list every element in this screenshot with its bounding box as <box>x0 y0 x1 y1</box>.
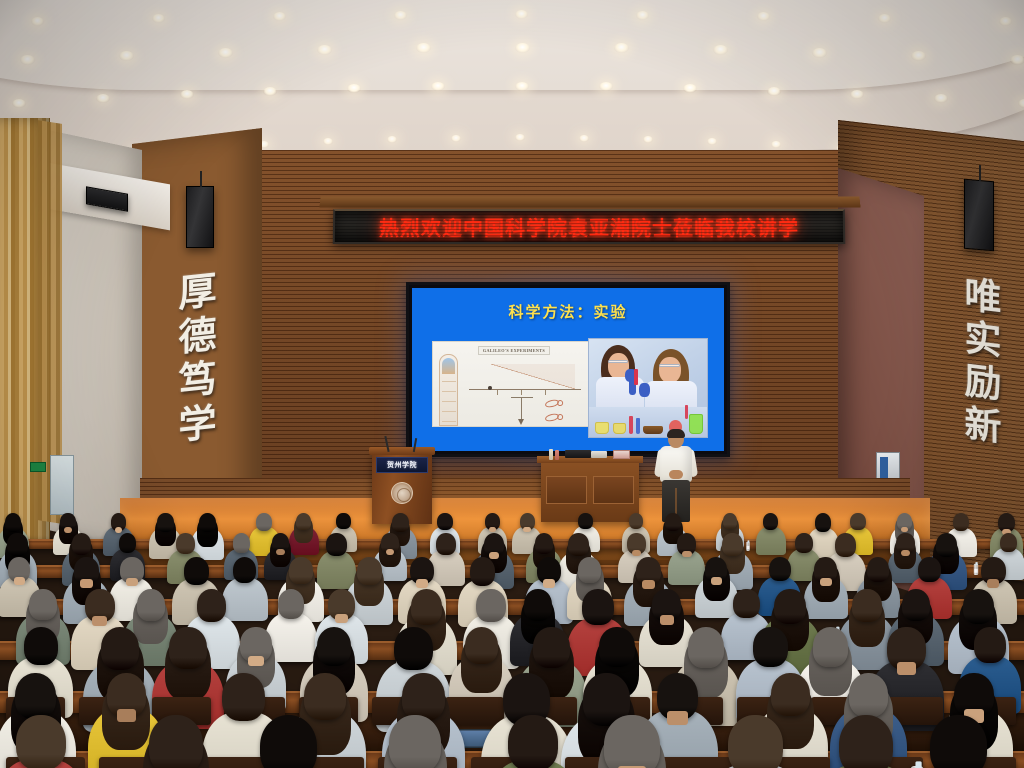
audience-neck <box>115 527 123 532</box>
audience-head <box>16 715 65 768</box>
audience-head <box>953 513 969 531</box>
audience-head <box>599 627 635 667</box>
audience-head <box>582 589 614 625</box>
audience-head <box>72 533 91 555</box>
audience-head <box>157 513 174 532</box>
audience-neck <box>335 614 349 623</box>
audience-member <box>0 715 89 768</box>
audience-head <box>233 557 257 583</box>
audience-head <box>963 589 994 624</box>
audience-head <box>392 513 409 532</box>
audience-head <box>578 513 593 529</box>
audience-head <box>278 589 305 619</box>
galileo-tower <box>439 354 458 426</box>
galileo-caption-text: GALILEO'S EXPERIMENTS <box>483 348 545 353</box>
audience-neck <box>632 550 641 556</box>
audience-neck <box>80 579 92 587</box>
audience-head <box>437 513 452 530</box>
ceiling-downlight <box>387 136 397 143</box>
audience-member <box>485 715 582 768</box>
table-bottle-1 <box>549 449 553 460</box>
galileo-pendulum-bar <box>511 397 533 398</box>
audience-head <box>137 589 165 621</box>
galileo-pendulum <box>521 397 522 421</box>
audience-head <box>357 557 382 585</box>
audience-head <box>813 627 849 667</box>
name-card <box>613 450 630 459</box>
audience-member <box>365 715 466 768</box>
audience-head <box>852 589 882 622</box>
audience-head <box>289 557 313 584</box>
audience-head <box>850 513 865 530</box>
audience-head <box>411 589 443 625</box>
lectern-nameplate: 贺州学院 <box>376 457 428 473</box>
galileo-cart-2 <box>544 412 559 422</box>
audience-head <box>524 589 552 621</box>
lectern-nameplate-text: 贺州学院 <box>387 460 417 470</box>
university-seal-icon <box>391 482 413 504</box>
ceiling-downlight <box>20 55 35 65</box>
audience-neck <box>14 577 25 584</box>
audience-head <box>508 715 558 768</box>
presenter-hands <box>669 470 683 479</box>
audience-head <box>849 673 889 717</box>
audience-head <box>867 557 889 582</box>
audience-head <box>604 715 660 768</box>
audience-head <box>733 589 759 618</box>
audience-head <box>902 589 931 621</box>
audience-head <box>184 557 209 585</box>
led-banner: 热烈欢迎中国科学院袁亚湘院士莅临我校讲学 <box>333 209 846 244</box>
audience-neck <box>92 616 107 626</box>
audience-member <box>756 513 786 558</box>
led-banner-text: 热烈欢迎中国科学院袁亚湘院士莅临我校讲学 <box>379 212 799 241</box>
audience-head <box>476 589 505 622</box>
banner-rail <box>319 196 860 207</box>
ceiling-downlight <box>451 135 461 142</box>
ceiling-downlight <box>31 17 44 26</box>
audience-head <box>795 533 813 553</box>
audience-head <box>1000 533 1017 552</box>
ceiling-downlight <box>515 43 530 53</box>
ceiling-downlight <box>812 48 827 58</box>
ceiling-downlight <box>579 135 589 142</box>
audience-neck <box>126 578 138 586</box>
audience-head <box>402 673 445 721</box>
audience-head <box>974 627 1006 663</box>
audience-head <box>24 627 58 665</box>
audience-head <box>728 715 783 768</box>
audience-head <box>578 557 601 583</box>
ceiling-downlight <box>394 11 407 20</box>
galileo-tower-top <box>442 358 455 374</box>
audience-head <box>176 533 195 554</box>
audience-head <box>465 627 499 664</box>
audience-neck <box>489 527 497 532</box>
audience-head <box>304 673 346 720</box>
audience-area <box>0 505 1024 768</box>
audience-head <box>835 533 856 557</box>
ceiling-downlight <box>636 11 649 20</box>
ceiling-downlight <box>12 99 26 108</box>
audience-head <box>15 673 56 719</box>
audience-member <box>904 715 1014 768</box>
audience-member <box>813 715 918 768</box>
audience-head <box>256 513 272 531</box>
audience-head <box>336 513 350 529</box>
av-equipment <box>565 450 591 458</box>
audience-neck <box>711 577 722 584</box>
audience-head <box>233 533 250 553</box>
audience-member <box>232 715 344 768</box>
audience-head <box>535 533 553 554</box>
audience-head <box>533 627 570 668</box>
audience-member <box>702 715 808 768</box>
audience-head <box>918 557 941 582</box>
audience-neck <box>416 579 428 587</box>
audience-head <box>222 673 265 721</box>
audience-head <box>197 589 226 622</box>
audience-head <box>753 627 788 667</box>
audience-head <box>763 513 778 530</box>
audience-member <box>123 715 228 768</box>
audience-head <box>839 715 893 768</box>
audience-neck <box>660 615 674 625</box>
audience-head <box>568 533 589 556</box>
loudspeaker-icon-right <box>964 179 994 252</box>
audience-neck <box>682 551 692 557</box>
wall-calligraphy-right: 唯实励新 <box>958 274 998 451</box>
audience-head <box>389 715 441 768</box>
ceiling-downlight <box>119 51 134 61</box>
ceiling-downlight <box>180 90 194 99</box>
presentation-slide: 科学方法：实验 GALILEO'S EXPERIMENTS <box>412 288 724 451</box>
audience-head <box>260 715 318 768</box>
audience-head <box>629 513 644 529</box>
galileo-caption-box: GALILEO'S EXPERIMENTS <box>478 346 550 355</box>
audience-head <box>149 715 203 768</box>
audience-head <box>5 513 22 532</box>
slide-title: 科学方法：实验 <box>412 301 724 322</box>
audience-head <box>665 513 681 531</box>
audience-head <box>774 589 806 624</box>
audience-neck <box>386 549 395 555</box>
audience-head <box>101 627 140 670</box>
audience-neck <box>543 579 555 587</box>
audience-head <box>169 627 207 669</box>
galileo-pendulum-bob <box>518 419 524 425</box>
audience-neck <box>248 656 264 666</box>
audience-head <box>936 533 957 557</box>
av-equipment-2 <box>591 451 607 458</box>
galileo-inclined-plane <box>491 364 575 390</box>
ceiling-downlight <box>683 84 697 93</box>
audience-head <box>688 627 724 668</box>
ceiling-downlight <box>767 87 781 96</box>
loudspeaker-icon-left <box>186 186 214 248</box>
ceiling-downlight <box>1010 55 1024 65</box>
audience-member <box>578 715 686 768</box>
ceiling-downlight <box>218 48 233 58</box>
audience-neck <box>901 550 910 556</box>
audience-neck <box>987 579 999 587</box>
presenter-hair <box>667 429 685 438</box>
audience-head <box>470 557 496 586</box>
audience-neck <box>820 578 831 586</box>
ceiling-downlight <box>263 87 277 96</box>
audience-torso <box>756 527 786 555</box>
galileo-ball <box>488 386 492 390</box>
audience-head <box>722 533 743 556</box>
audience-head <box>296 513 311 530</box>
audience-head <box>723 513 737 529</box>
audience-head <box>436 533 456 555</box>
auditorium-photo: 厚德笃学 唯实励新 热烈欢迎中国科学院袁亚湘院士莅临我校讲学 科学方法：实验 G… <box>0 0 1024 768</box>
audience-head <box>771 673 810 716</box>
audience-neck <box>276 549 285 555</box>
ceiling-downlight <box>323 138 333 145</box>
galileo-baseline <box>469 389 581 390</box>
slide-image-lab-students <box>588 338 708 438</box>
audience-neck <box>523 527 531 532</box>
audience-head <box>29 589 57 620</box>
exit-sign-icon <box>30 462 46 472</box>
audience-head <box>815 513 832 532</box>
audience-head <box>119 533 137 553</box>
table-bottle-2 <box>555 450 559 460</box>
audience-head <box>394 627 432 670</box>
audience-neck <box>64 527 72 532</box>
audience-head <box>326 533 346 556</box>
audience-head <box>317 627 352 666</box>
lectern-top <box>369 447 435 455</box>
audience-neck <box>642 580 655 588</box>
audience-head <box>199 513 216 532</box>
audience-head <box>7 533 27 556</box>
audience-head <box>930 715 987 768</box>
galileo-cart-1 <box>544 398 559 408</box>
ceiling-downlight <box>317 45 332 55</box>
ceiling-downlight <box>273 12 286 21</box>
slide-image-galileo: GALILEO'S EXPERIMENTS <box>432 341 590 427</box>
wall-calligraphy-left: 厚德笃学 <box>172 270 213 450</box>
ceiling-downlight <box>515 82 529 91</box>
audience-head <box>769 557 791 581</box>
